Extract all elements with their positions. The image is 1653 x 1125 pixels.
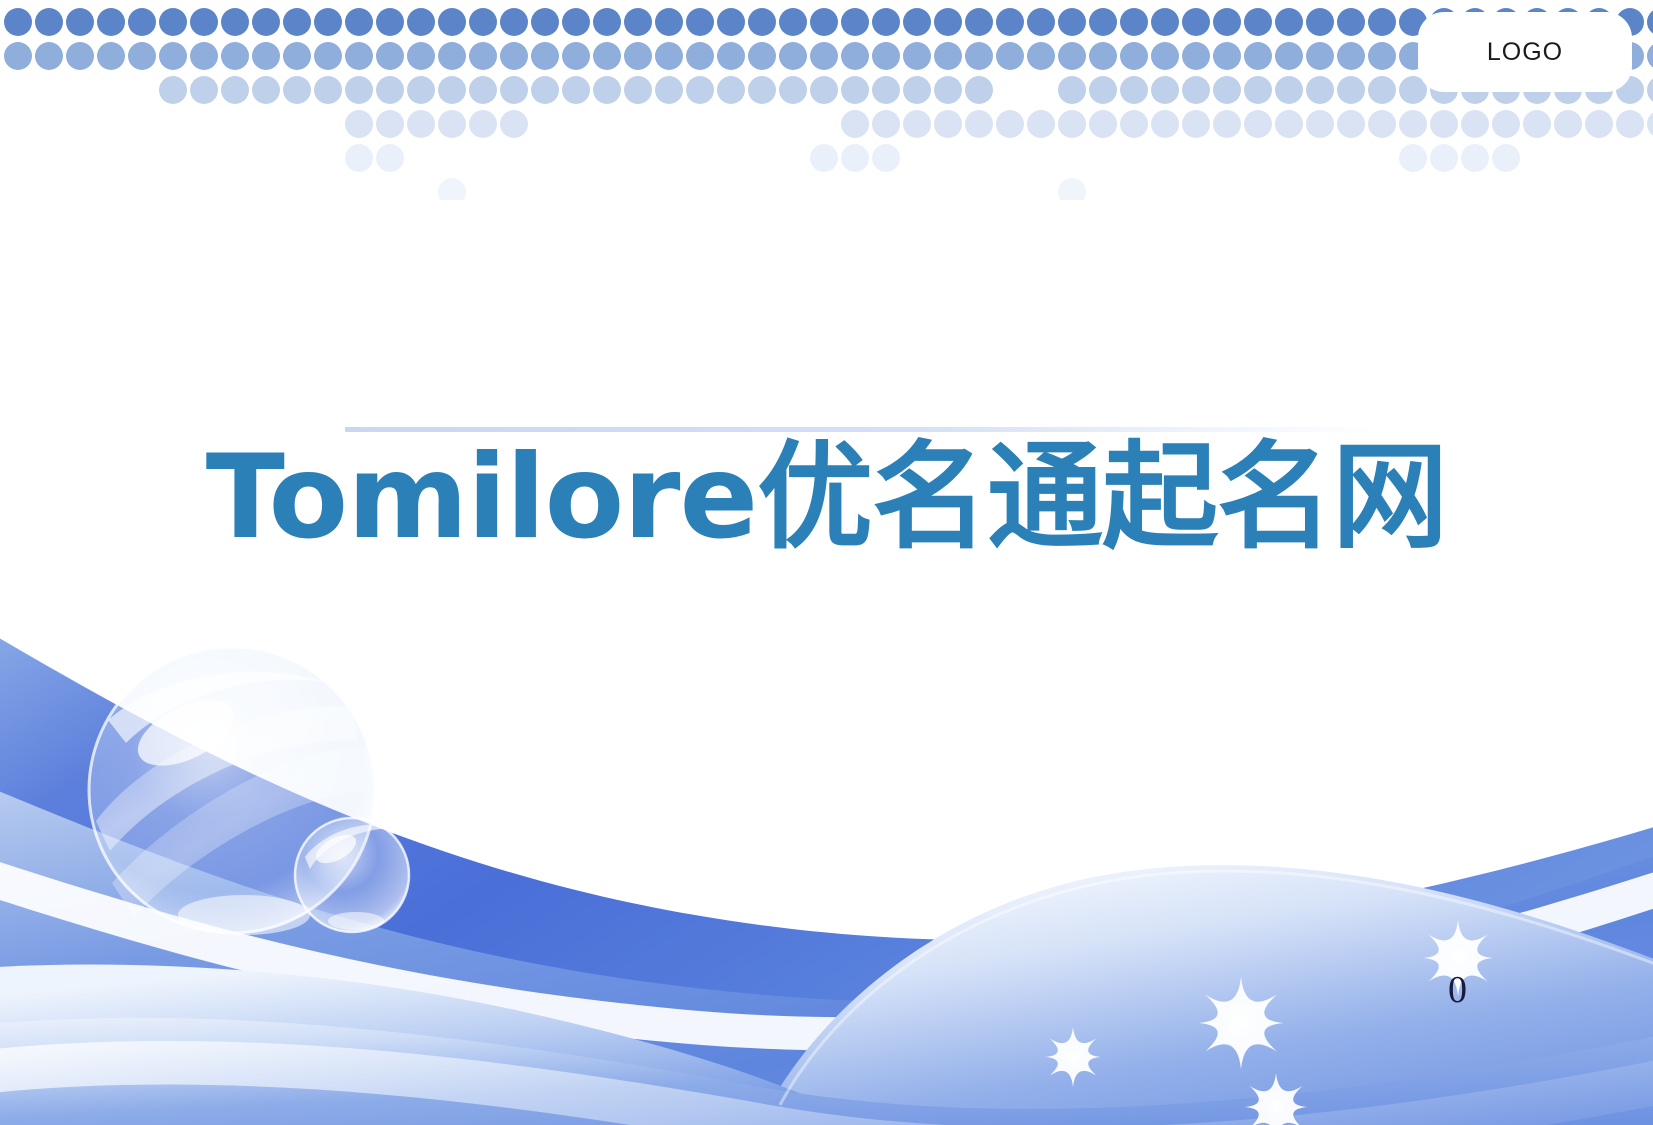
wave-artwork bbox=[0, 625, 1653, 1125]
dot bbox=[376, 110, 404, 138]
dot bbox=[1275, 8, 1303, 36]
dot bbox=[810, 42, 838, 70]
dot bbox=[1089, 8, 1117, 36]
dot bbox=[66, 8, 94, 36]
dot bbox=[934, 76, 962, 104]
dot bbox=[1089, 76, 1117, 104]
dot bbox=[438, 8, 466, 36]
dot bbox=[686, 8, 714, 36]
dot bbox=[66, 42, 94, 70]
dot bbox=[221, 8, 249, 36]
dot bbox=[810, 76, 838, 104]
dot bbox=[965, 8, 993, 36]
dot bbox=[1523, 110, 1551, 138]
dot bbox=[1244, 8, 1272, 36]
dot bbox=[1585, 110, 1613, 138]
dot bbox=[593, 76, 621, 104]
dot bbox=[531, 42, 559, 70]
dot bbox=[1213, 8, 1241, 36]
dot bbox=[500, 42, 528, 70]
dot bbox=[1058, 42, 1086, 70]
dot bbox=[934, 110, 962, 138]
dot bbox=[1151, 8, 1179, 36]
dot-row-1 bbox=[4, 8, 1653, 36]
dot bbox=[438, 178, 466, 200]
dot bbox=[283, 76, 311, 104]
dot bbox=[1337, 76, 1365, 104]
dot-pattern-decoration bbox=[0, 0, 1653, 200]
dot bbox=[1306, 8, 1334, 36]
dot bbox=[996, 8, 1024, 36]
dot bbox=[283, 42, 311, 70]
dot bbox=[97, 8, 125, 36]
dot bbox=[469, 8, 497, 36]
dot bbox=[159, 42, 187, 70]
dot bbox=[221, 42, 249, 70]
dot bbox=[469, 76, 497, 104]
dot bbox=[996, 110, 1024, 138]
dot bbox=[779, 8, 807, 36]
dot bbox=[1182, 110, 1210, 138]
dot bbox=[407, 42, 435, 70]
dot bbox=[1399, 110, 1427, 138]
dot bbox=[376, 42, 404, 70]
dot bbox=[1306, 76, 1334, 104]
dot bbox=[1182, 76, 1210, 104]
dot bbox=[376, 8, 404, 36]
dot bbox=[345, 144, 373, 172]
dot bbox=[190, 76, 218, 104]
dot bbox=[1213, 76, 1241, 104]
dot bbox=[686, 42, 714, 70]
dot bbox=[1058, 178, 1086, 200]
dot bbox=[1337, 42, 1365, 70]
small-bubble bbox=[295, 818, 409, 932]
dot bbox=[748, 8, 776, 36]
dot bbox=[872, 76, 900, 104]
dot bbox=[469, 110, 497, 138]
dot bbox=[1399, 144, 1427, 172]
presentation-slide: LOGO Tomilore优名通起名网 bbox=[0, 0, 1653, 1125]
dot bbox=[903, 42, 931, 70]
dot bbox=[1647, 110, 1653, 138]
dot bbox=[841, 110, 869, 138]
dot bbox=[717, 42, 745, 70]
dot bbox=[345, 42, 373, 70]
dot bbox=[128, 8, 156, 36]
dot bbox=[314, 42, 342, 70]
dot bbox=[407, 110, 435, 138]
dot bbox=[903, 110, 931, 138]
dot bbox=[4, 42, 32, 70]
dot bbox=[159, 76, 187, 104]
dot bbox=[531, 8, 559, 36]
dot bbox=[1275, 76, 1303, 104]
dot bbox=[283, 8, 311, 36]
dot bbox=[748, 76, 776, 104]
dot bbox=[1368, 42, 1396, 70]
dot bbox=[655, 8, 683, 36]
dot bbox=[810, 144, 838, 172]
dot bbox=[1430, 144, 1458, 172]
dot bbox=[1151, 42, 1179, 70]
dot bbox=[903, 8, 931, 36]
dot bbox=[872, 8, 900, 36]
dot bbox=[1306, 110, 1334, 138]
dot bbox=[1275, 110, 1303, 138]
dot bbox=[1337, 8, 1365, 36]
dot bbox=[841, 144, 869, 172]
dot bbox=[1027, 8, 1055, 36]
dot bbox=[97, 42, 125, 70]
dot bbox=[35, 8, 63, 36]
dot bbox=[1461, 110, 1489, 138]
dot-row-6 bbox=[438, 178, 1086, 200]
dot bbox=[1430, 110, 1458, 138]
dot bbox=[1089, 42, 1117, 70]
dot bbox=[1492, 110, 1520, 138]
dot bbox=[500, 110, 528, 138]
dot bbox=[562, 8, 590, 36]
dot bbox=[872, 110, 900, 138]
dot-row-2 bbox=[4, 42, 1653, 70]
dot bbox=[500, 76, 528, 104]
dot bbox=[1120, 110, 1148, 138]
dot bbox=[1213, 110, 1241, 138]
dot bbox=[1554, 110, 1582, 138]
page-number: 0 bbox=[1448, 968, 1467, 1012]
dot bbox=[593, 8, 621, 36]
dot bbox=[1244, 42, 1272, 70]
dot bbox=[1368, 76, 1396, 104]
dot bbox=[562, 76, 590, 104]
dot bbox=[1120, 76, 1148, 104]
dot bbox=[1027, 42, 1055, 70]
dot bbox=[128, 42, 156, 70]
dot bbox=[717, 76, 745, 104]
dot bbox=[1275, 42, 1303, 70]
dot bbox=[593, 42, 621, 70]
dot bbox=[1182, 8, 1210, 36]
dot bbox=[438, 76, 466, 104]
dot bbox=[190, 42, 218, 70]
dot bbox=[1244, 76, 1272, 104]
dot bbox=[779, 76, 807, 104]
dot bbox=[872, 42, 900, 70]
dot bbox=[314, 8, 342, 36]
dot bbox=[407, 76, 435, 104]
dot bbox=[1058, 8, 1086, 36]
logo-placeholder[interactable]: LOGO bbox=[1418, 12, 1632, 92]
page-title: Tomilore优名通起名网 bbox=[206, 430, 1447, 567]
dot bbox=[810, 8, 838, 36]
dot bbox=[1616, 110, 1644, 138]
dot bbox=[748, 42, 776, 70]
dot bbox=[345, 8, 373, 36]
dot bbox=[1058, 110, 1086, 138]
dot bbox=[1337, 110, 1365, 138]
dot bbox=[996, 42, 1024, 70]
dot bbox=[376, 144, 404, 172]
dot bbox=[686, 76, 714, 104]
dot bbox=[314, 76, 342, 104]
dot bbox=[1492, 144, 1520, 172]
dot bbox=[903, 76, 931, 104]
dot bbox=[159, 8, 187, 36]
dot bbox=[872, 144, 900, 172]
title-block: Tomilore优名通起名网 bbox=[0, 430, 1653, 567]
dot bbox=[965, 110, 993, 138]
dot bbox=[965, 42, 993, 70]
dot bbox=[841, 8, 869, 36]
dot bbox=[221, 76, 249, 104]
dot bbox=[438, 42, 466, 70]
dot bbox=[1120, 8, 1148, 36]
dot-row-5 bbox=[345, 144, 1520, 172]
dot bbox=[531, 76, 559, 104]
dot bbox=[655, 76, 683, 104]
dot bbox=[717, 8, 745, 36]
dot bbox=[1027, 110, 1055, 138]
dot-row-4 bbox=[345, 110, 1653, 138]
logo-label: LOGO bbox=[1487, 38, 1563, 67]
dot bbox=[190, 8, 218, 36]
dot bbox=[252, 76, 280, 104]
dot bbox=[1244, 110, 1272, 138]
dot bbox=[500, 8, 528, 36]
dot bbox=[376, 76, 404, 104]
dot bbox=[624, 76, 652, 104]
dot bbox=[1089, 110, 1117, 138]
dot bbox=[934, 8, 962, 36]
dot bbox=[562, 42, 590, 70]
dot bbox=[1647, 8, 1653, 36]
dot bbox=[1213, 42, 1241, 70]
wave-layers bbox=[0, 625, 1653, 1125]
dot bbox=[4, 8, 32, 36]
dot bbox=[1120, 42, 1148, 70]
dot bbox=[345, 76, 373, 104]
dot bbox=[345, 110, 373, 138]
dot bbox=[252, 8, 280, 36]
dot bbox=[841, 42, 869, 70]
dot bbox=[1647, 42, 1653, 70]
dot bbox=[438, 110, 466, 138]
dot bbox=[1151, 110, 1179, 138]
dot bbox=[624, 8, 652, 36]
dot bbox=[655, 42, 683, 70]
dot bbox=[252, 42, 280, 70]
dot bbox=[1182, 42, 1210, 70]
dot bbox=[1058, 76, 1086, 104]
dot bbox=[1368, 8, 1396, 36]
dot bbox=[934, 42, 962, 70]
dot bbox=[407, 8, 435, 36]
dot bbox=[779, 42, 807, 70]
dot bbox=[965, 76, 993, 104]
dot bbox=[1461, 144, 1489, 172]
dot bbox=[35, 42, 63, 70]
dot bbox=[841, 76, 869, 104]
dot bbox=[469, 42, 497, 70]
dot bbox=[1368, 110, 1396, 138]
dot bbox=[1151, 76, 1179, 104]
dot bbox=[1647, 76, 1653, 104]
dot bbox=[624, 42, 652, 70]
dot bbox=[1306, 42, 1334, 70]
